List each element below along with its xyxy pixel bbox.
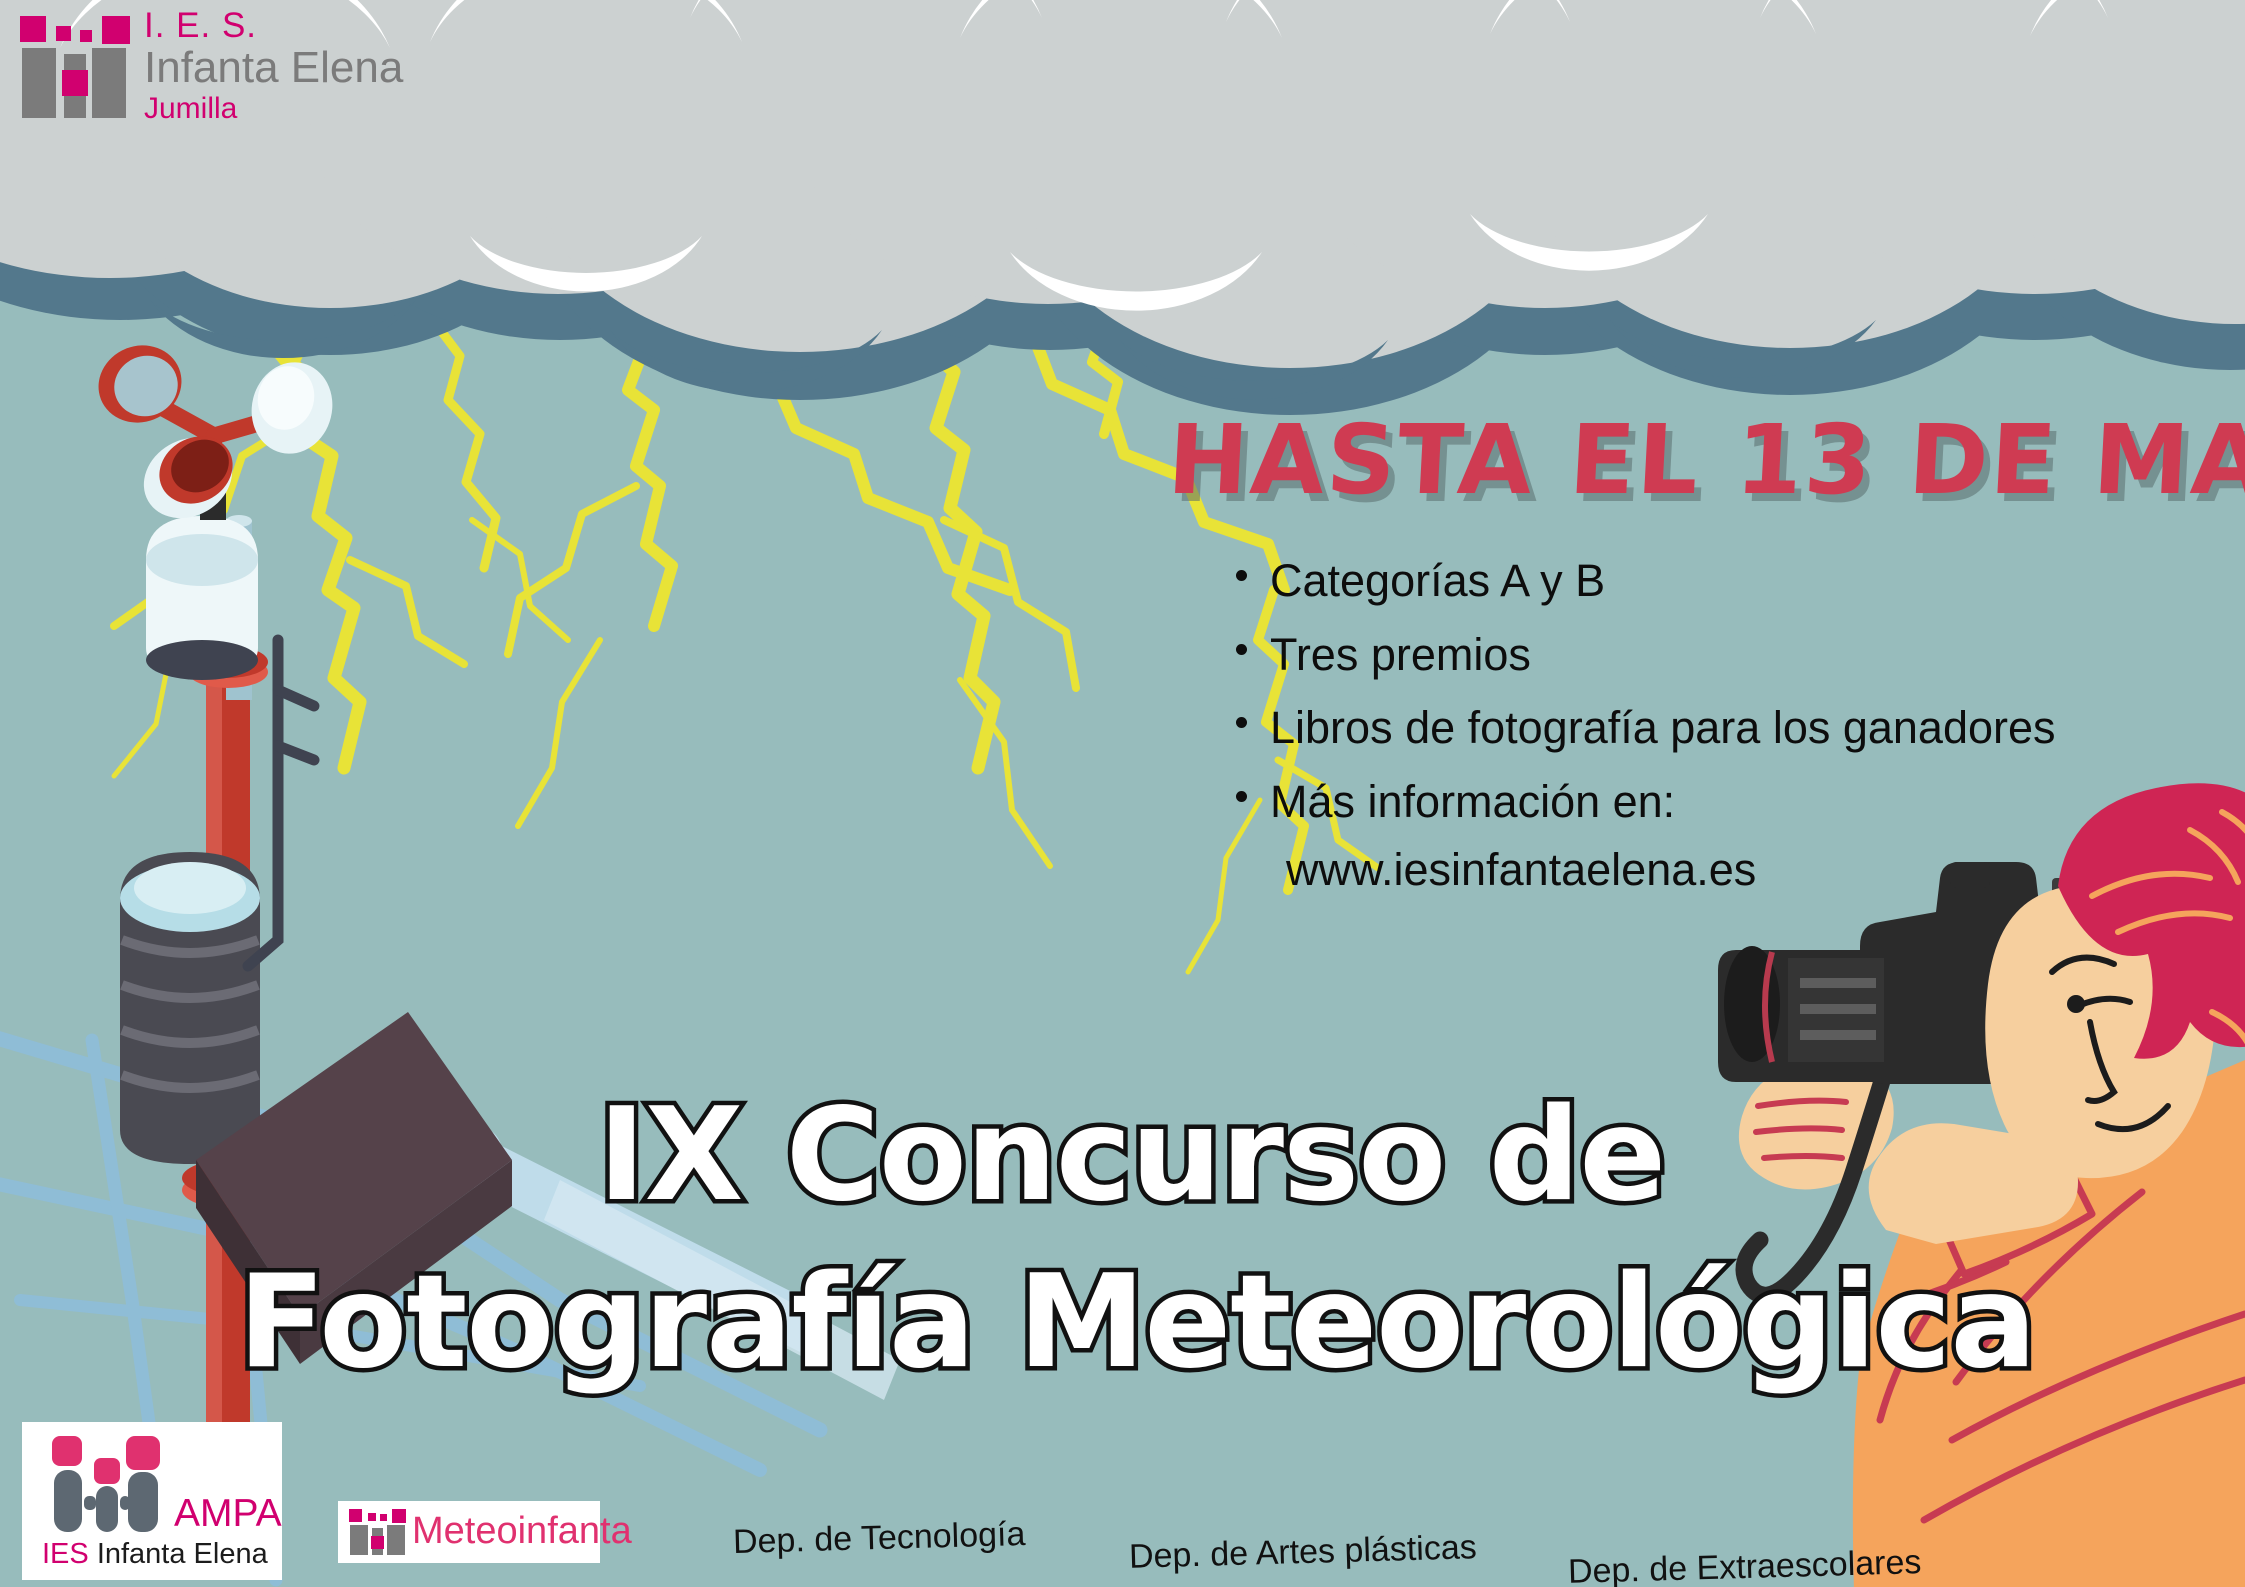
- deadline-headline: HASTA EL 13 DE MARZO: [1165, 412, 2245, 508]
- ies-logo-line3: Jumilla: [144, 94, 403, 124]
- ampa-wordmark: AMPA: [174, 1494, 282, 1533]
- list-item-text: Tres premios: [1270, 629, 1531, 680]
- website-url[interactable]: www.iesinfantaelena.es: [1270, 837, 2210, 903]
- meteoinfanta-logo-mark: [348, 1508, 410, 1556]
- ampa-subtitle-name: Infanta Elena: [97, 1538, 268, 1570]
- ies-logo-mark: [18, 14, 136, 122]
- list-item: Tres premios: [1230, 622, 2210, 688]
- details-list: Categorías A y B Tres premios Libros de …: [1230, 548, 2210, 910]
- ies-logo-line1: I. E. S.: [144, 8, 403, 43]
- department-credit-tecnologia: Dep. de Tecnología: [733, 1515, 1026, 1562]
- poster-canvas: I. E. S. Infanta Elena Jumilla HASTA EL …: [0, 0, 2245, 1587]
- sensor-canister: [146, 516, 258, 680]
- page-title-line1: IX Concurso de: [598, 1081, 1665, 1230]
- list-item-text: Categorías A y B: [1270, 555, 1605, 606]
- ies-infanta-elena-logo: I. E. S. Infanta Elena Jumilla: [18, 8, 418, 128]
- list-item: Libros de fotografía para los ganadores: [1230, 695, 2210, 761]
- list-item-text: Más información en:: [1270, 776, 1675, 827]
- page-title-line2: Fotografía Meteorológica: [238, 1248, 2036, 1397]
- ampa-logo: AMPA IES Infanta Elena: [22, 1422, 282, 1580]
- list-item: Categorías A y B: [1230, 548, 2210, 614]
- meteoinfanta-wordmark: Meteoinfanta: [412, 1512, 632, 1550]
- radiation-shield: [120, 852, 260, 1164]
- meteoinfanta-logo: Meteoinfanta: [338, 1501, 600, 1563]
- list-item: Más información en: www.iesinfantaelena.…: [1230, 769, 2210, 902]
- ampa-logo-mark: [48, 1434, 170, 1540]
- list-item-text: Libros de fotografía para los ganadores: [1270, 702, 2056, 753]
- ies-logo-line2: Infanta Elena: [144, 46, 403, 90]
- ampa-subtitle-ies: IES: [42, 1538, 89, 1570]
- ampa-subtitle: IES Infanta Elena: [42, 1540, 268, 1569]
